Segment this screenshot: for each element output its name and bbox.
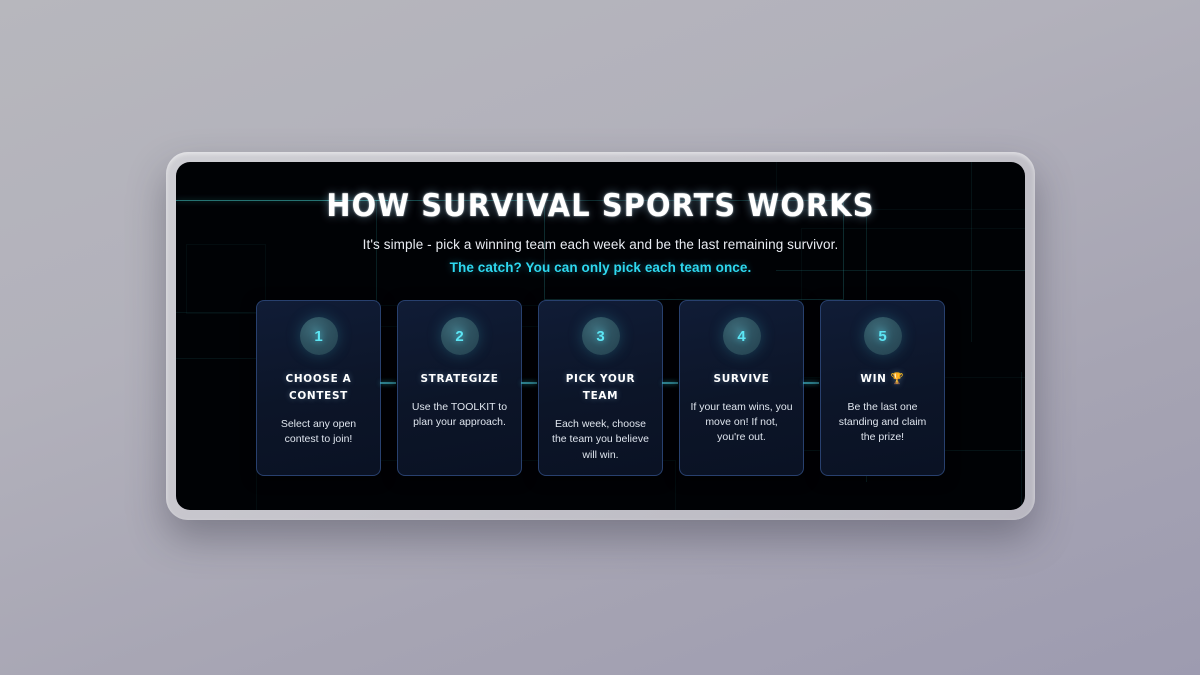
panel-header: HOW SURVIVAL SPORTS WORKS It's simple - … [176,162,1025,275]
steps-row: 1 CHOOSE A CONTEST Select any open conte… [176,300,1025,476]
device-bezel: HOW SURVIVAL SPORTS WORKS It's simple - … [166,152,1035,520]
step-title-1: CHOOSE A CONTEST [270,370,368,404]
screen-panel: HOW SURVIVAL SPORTS WORKS It's simple - … [176,162,1025,510]
step-card-3[interactable]: 3 PICK YOUR TEAM Each week, choose the t… [538,300,663,476]
step-description-4: If your team wins, you move on! If not, … [690,400,793,446]
step-connector-4 [803,382,819,384]
step-connector-1 [380,382,396,384]
step-badge-2: 2 [441,317,479,355]
step-description-2: Use the TOOLKIT to plan your approach. [408,400,511,430]
step-title-3: PICK YOUR TEAM [552,370,650,404]
step-card-5[interactable]: 5 WIN 🏆 Be the last one standing and cla… [820,300,945,476]
step-connector-3 [662,382,678,384]
step-badge-4: 4 [723,317,761,355]
step-connector-2 [521,382,537,384]
step-badge-3: 3 [582,317,620,355]
step-title-2: STRATEGIZE [411,370,509,387]
page-subtitle: It's simple - pick a winning team each w… [176,237,1025,252]
page-title: HOW SURVIVAL SPORTS WORKS [206,188,996,224]
step-title-4: SURVIVE [693,370,791,387]
step-badge-1: 1 [300,317,338,355]
step-card-1[interactable]: 1 CHOOSE A CONTEST Select any open conte… [256,300,381,476]
step-description-5: Be the last one standing and claim the p… [831,400,934,446]
step-description-1: Select any open contest to join! [267,417,370,447]
step-badge-5: 5 [864,317,902,355]
step-description-3: Each week, choose the team you believe w… [549,417,652,463]
step-title-5: WIN 🏆 [834,370,932,387]
catch-line: The catch? You can only pick each team o… [176,260,1025,275]
step-card-4[interactable]: 4 SURVIVE If your team wins, you move on… [679,300,804,476]
step-card-2[interactable]: 2 STRATEGIZE Use the TOOLKIT to plan you… [397,300,522,476]
